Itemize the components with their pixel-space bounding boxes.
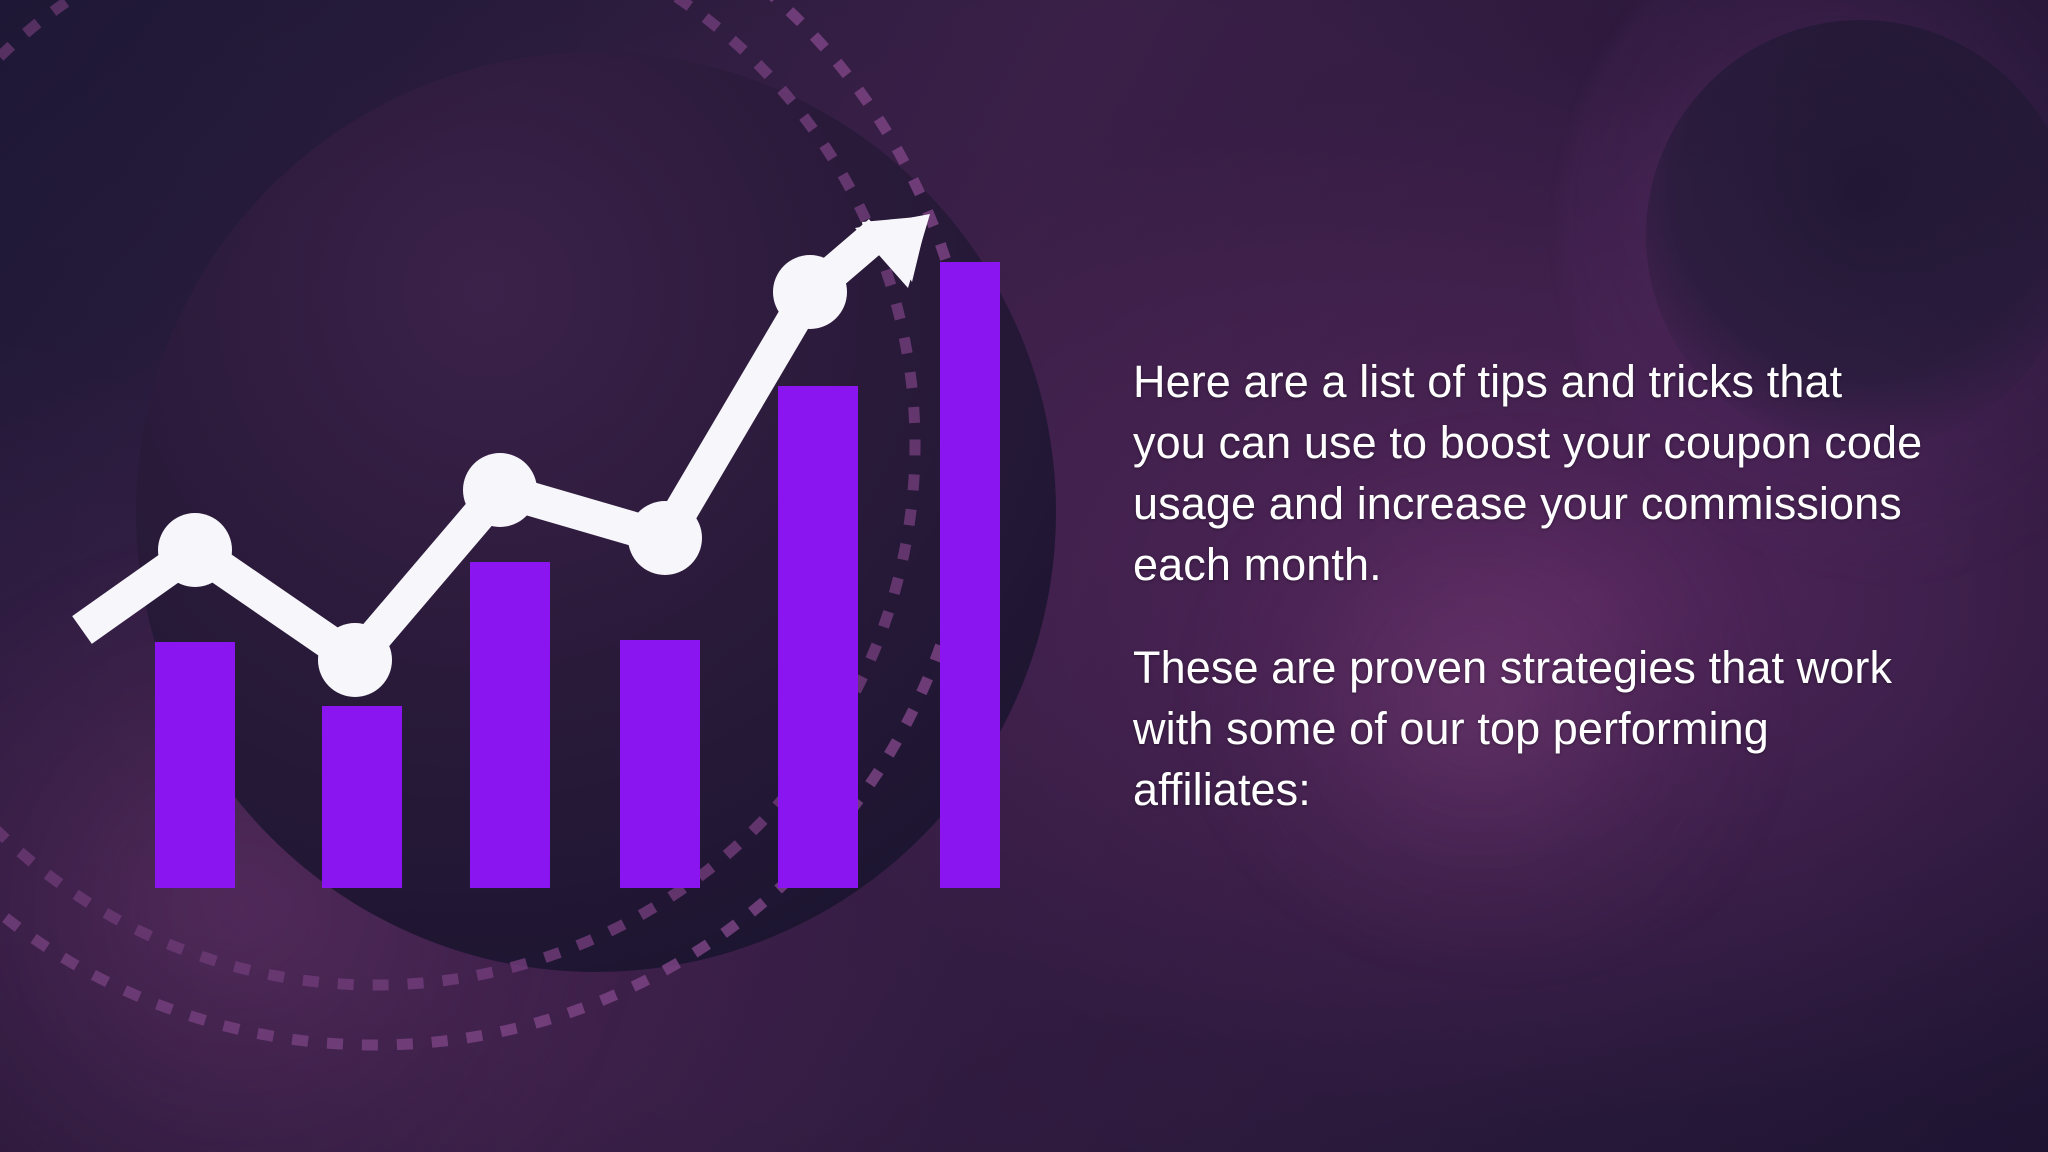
- bar-2: [322, 706, 402, 888]
- bar-1: [155, 642, 235, 888]
- data-point-dot-icon: [773, 255, 847, 329]
- data-point-dot-icon: [463, 453, 537, 527]
- bar-5: [778, 386, 858, 888]
- data-point-dot-icon: [628, 501, 702, 575]
- body-text-column: Here are a list of tips and tricks that …: [1133, 352, 1923, 821]
- data-point-dot-icon: [158, 513, 232, 587]
- bar-4: [620, 640, 700, 888]
- slide-canvas: Here are a list of tips and tricks that …: [0, 0, 2048, 1152]
- paragraph-strategies: These are proven strategies that work wi…: [1133, 638, 1923, 821]
- bar-6: [940, 262, 1000, 888]
- growth-bar-chart-illustration: [0, 0, 1000, 1000]
- paragraph-intro: Here are a list of tips and tricks that …: [1133, 352, 1923, 596]
- chart-bars: [155, 262, 1000, 888]
- bar-3: [470, 562, 550, 888]
- data-point-dot-icon: [318, 623, 392, 697]
